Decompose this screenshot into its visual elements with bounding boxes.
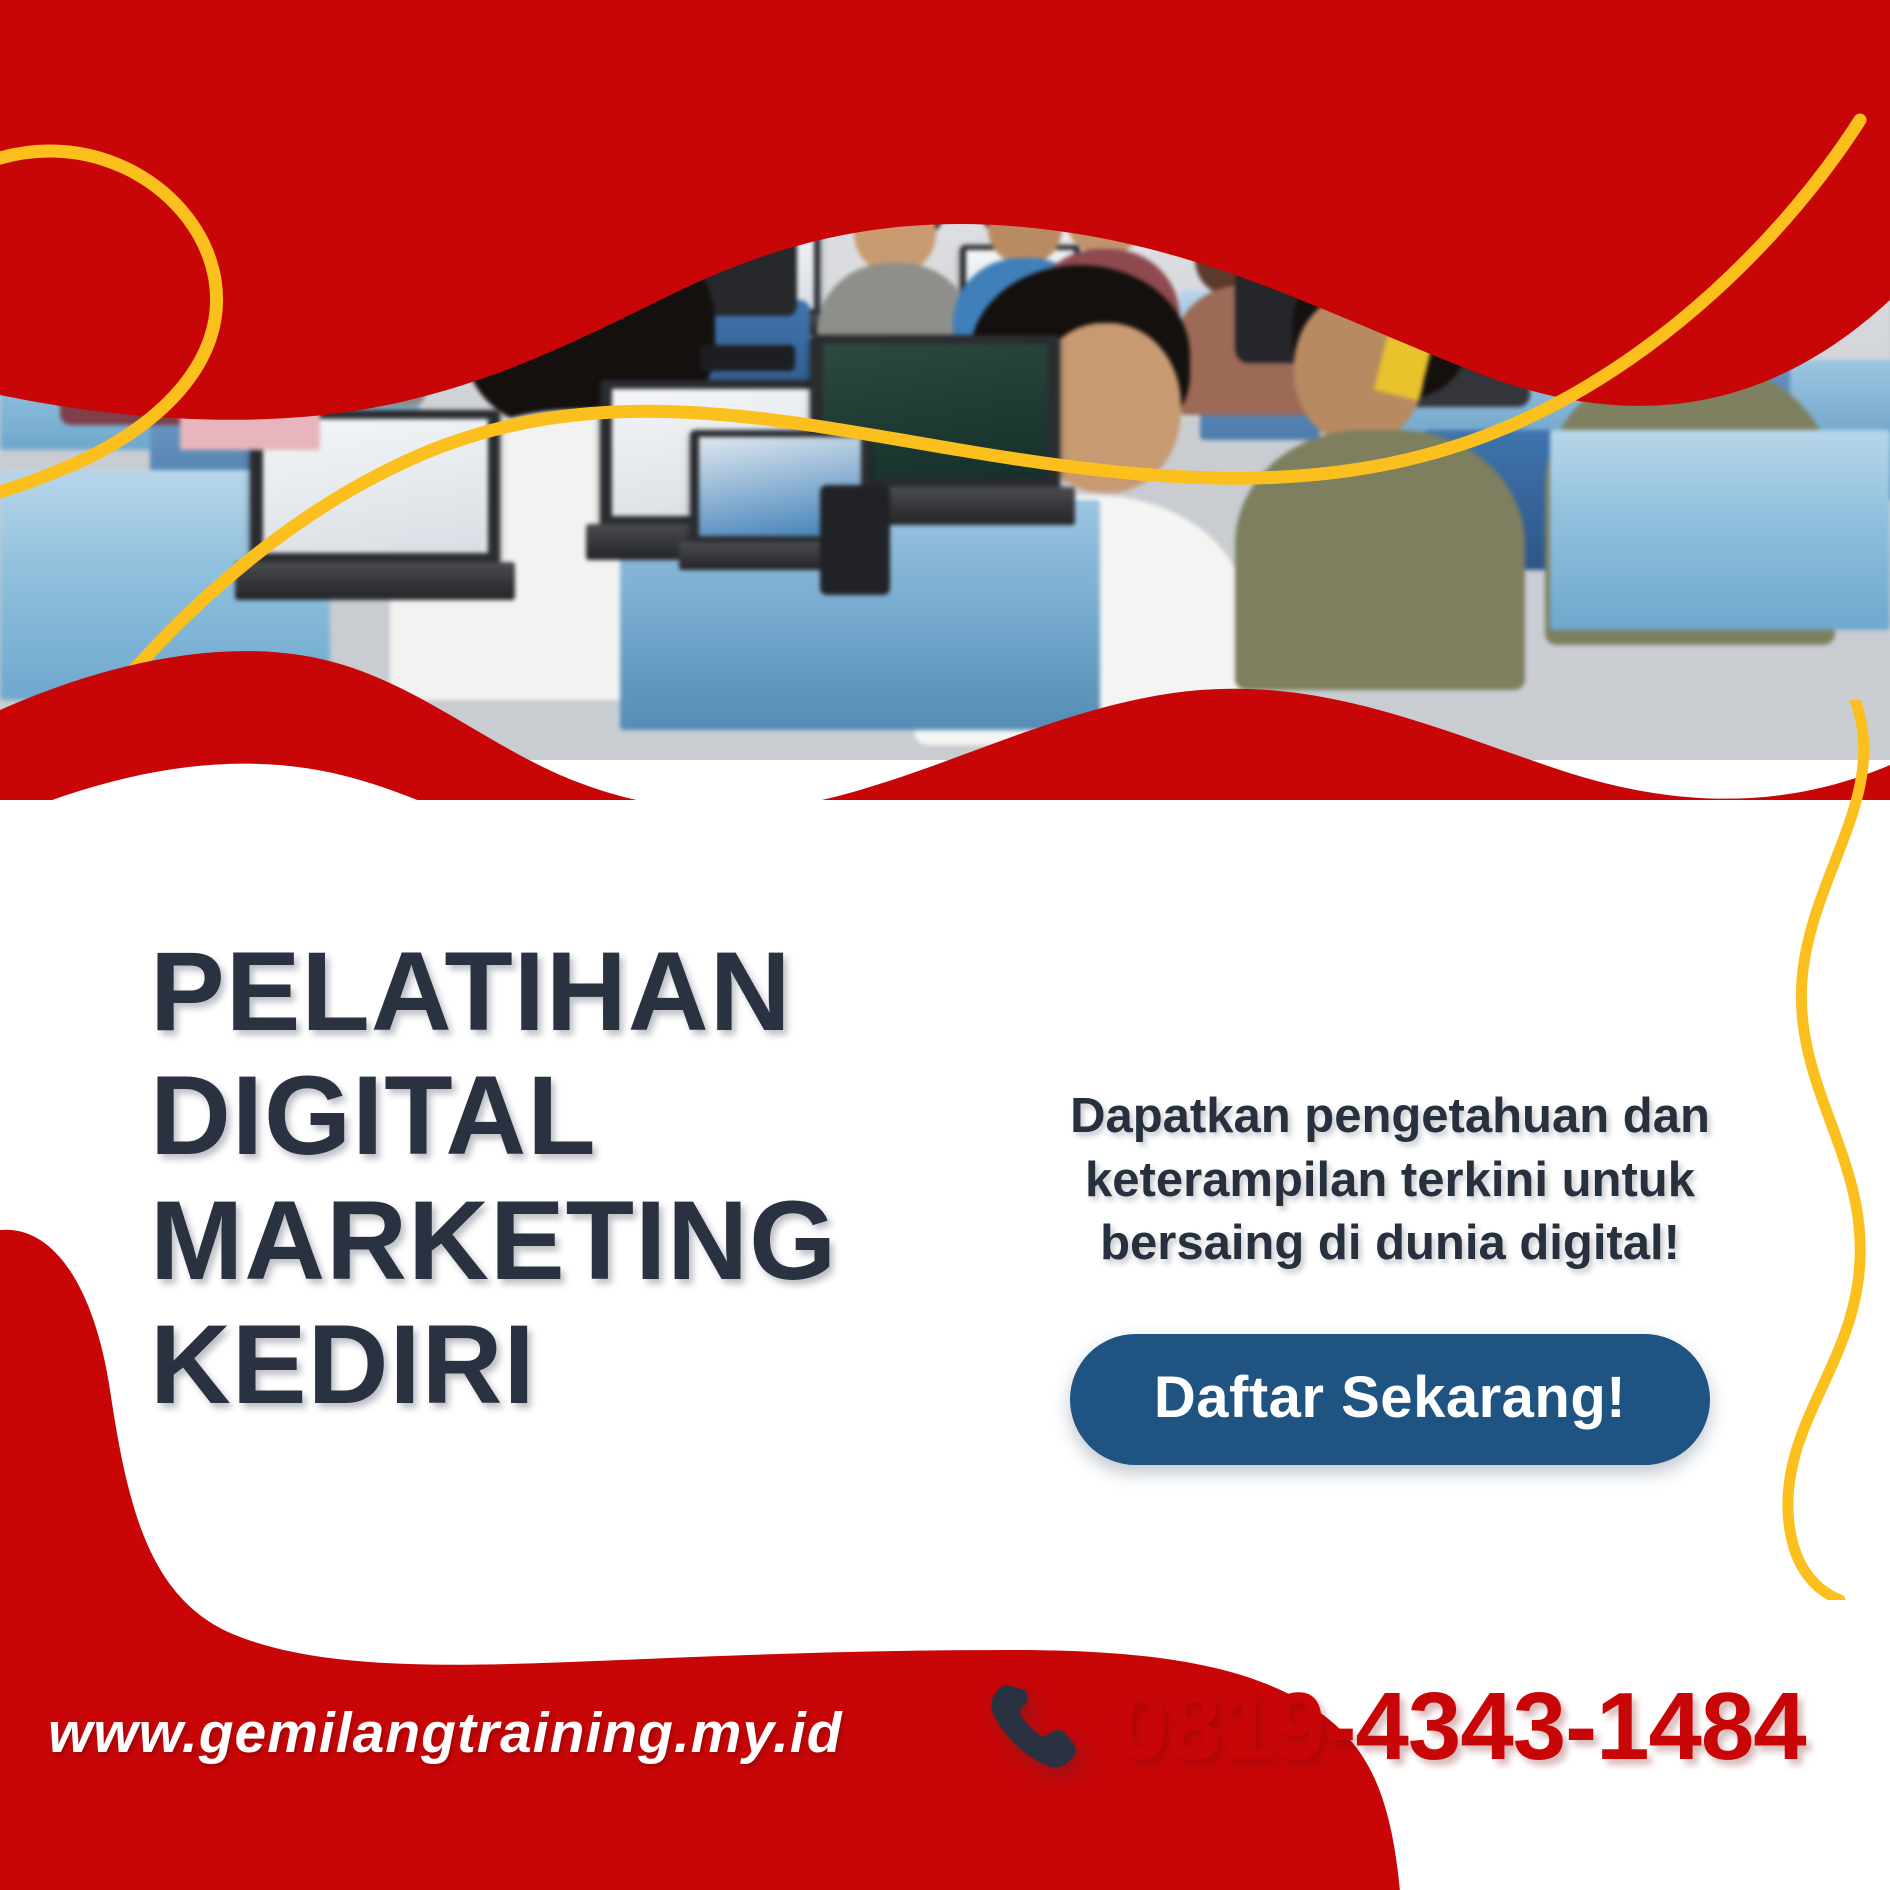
subtext-line-3: bersaing di dunia digital! bbox=[990, 1212, 1790, 1276]
poster-root: PELATIHAN DIGITAL MARKETING KEDIRI Dapat… bbox=[0, 0, 1890, 1890]
register-now-button[interactable]: Daftar Sekarang! bbox=[1070, 1334, 1710, 1465]
headline-line-4: KEDIRI bbox=[150, 1303, 910, 1427]
subtext-line-1: Dapatkan pengetahuan dan bbox=[990, 1085, 1790, 1149]
page-title: PELATIHAN DIGITAL MARKETING KEDIRI bbox=[150, 930, 910, 1427]
headline-line-3: MARKETING bbox=[150, 1179, 910, 1303]
phone-contact[interactable]: 0819-4343-1484 bbox=[985, 1672, 1806, 1782]
subtext-paragraph: Dapatkan pengetahuan dan keterampilan te… bbox=[990, 1085, 1790, 1276]
training-photo bbox=[0, 0, 1890, 760]
phone-handset-icon bbox=[985, 1677, 1085, 1777]
subtext-line-2: keterampilan terkini untuk bbox=[990, 1149, 1790, 1213]
headline-line-2: DIGITAL bbox=[150, 1054, 910, 1178]
headline-line-1: PELATIHAN bbox=[150, 930, 910, 1054]
right-column: Dapatkan pengetahuan dan keterampilan te… bbox=[990, 1085, 1790, 1465]
phone-number: 0819-4343-1484 bbox=[1115, 1672, 1806, 1782]
website-url[interactable]: www.gemilangtraining.my.id bbox=[48, 1700, 843, 1766]
